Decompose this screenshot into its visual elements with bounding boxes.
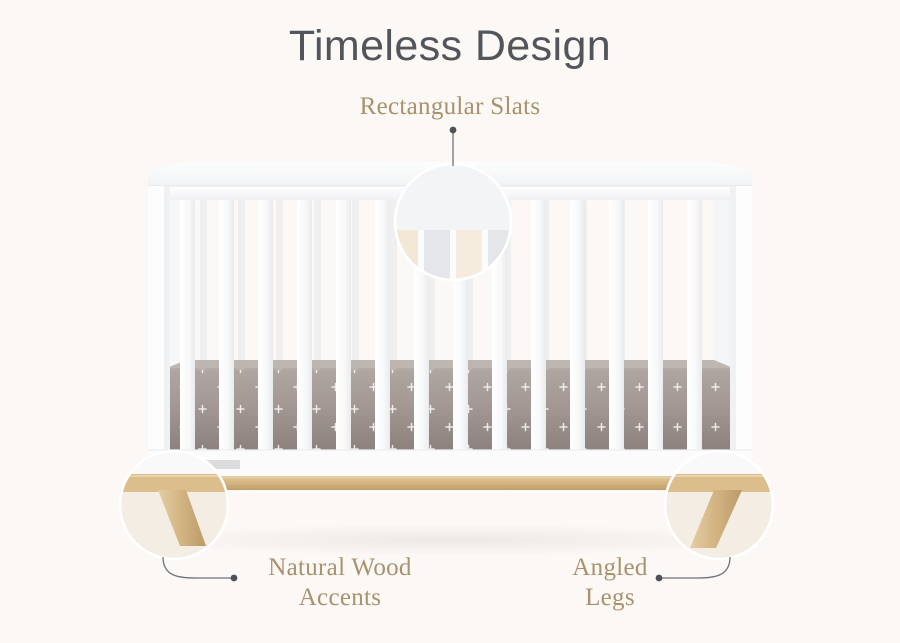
callout-label-natural-wood-line2: Accents xyxy=(299,584,382,611)
callout-label-angled-legs-line2: Legs xyxy=(585,584,635,611)
page-title: Timeless Design xyxy=(0,22,900,71)
callout-label-natural-wood: Natural Wood Accents xyxy=(210,553,470,612)
infographic-canvas: Timeless Design Rectangular Slats Natura… xyxy=(0,0,900,643)
callout-label-angled-legs-line1: Angled xyxy=(572,554,647,581)
magnifier-angled-legs xyxy=(665,451,775,559)
connector-rectangular-slats xyxy=(450,127,457,166)
callout-label-angled-legs: Angled Legs xyxy=(500,553,720,612)
callout-label-natural-wood-line1: Natural Wood xyxy=(268,554,411,581)
callout-label-rectangular-slats: Rectangular Slats xyxy=(0,92,900,122)
magnifier-natural-wood xyxy=(120,451,230,559)
